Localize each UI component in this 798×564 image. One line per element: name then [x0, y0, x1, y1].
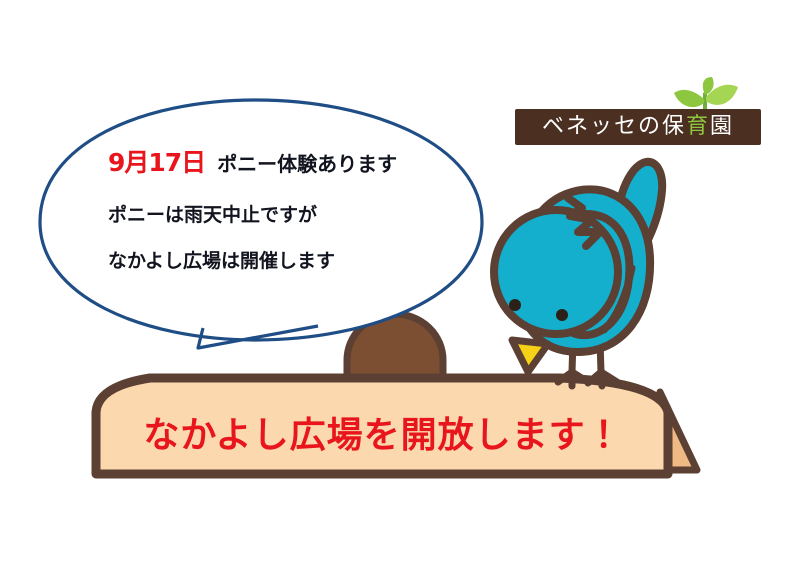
bird-beak: [512, 340, 548, 372]
bubble-line-1: 9月17日ポニー体験あります: [108, 143, 438, 179]
headline: なかよし広場を開放します！: [118, 406, 648, 458]
logo-text-part1: ベネッセの保: [542, 114, 686, 139]
logo-text-part2: 園: [710, 114, 734, 139]
speech-bubble-text: 9月17日ポニー体験あります ポニーは雨天中止ですが なかよし広場は開催します: [108, 143, 438, 273]
bubble-line-2: ポニーは雨天中止ですが: [108, 200, 438, 227]
logo-green-char: 育: [686, 114, 710, 139]
blue-bird-character: [494, 162, 662, 386]
bubble-line-1-text: ポニー体験あります: [217, 152, 397, 176]
logo: ベネッセの保育園: [515, 78, 775, 138]
logo-text: ベネッセの保育園: [515, 109, 761, 145]
event-date: 9月17日: [108, 148, 205, 177]
bird-eye-right: [556, 309, 568, 321]
bird-eye-left: [509, 299, 521, 311]
poster-canvas: 9月17日ポニー体験あります ポニーは雨天中止ですが なかよし広場は開催します …: [0, 0, 798, 564]
bubble-line-3: なかよし広場は開催します: [108, 246, 438, 273]
